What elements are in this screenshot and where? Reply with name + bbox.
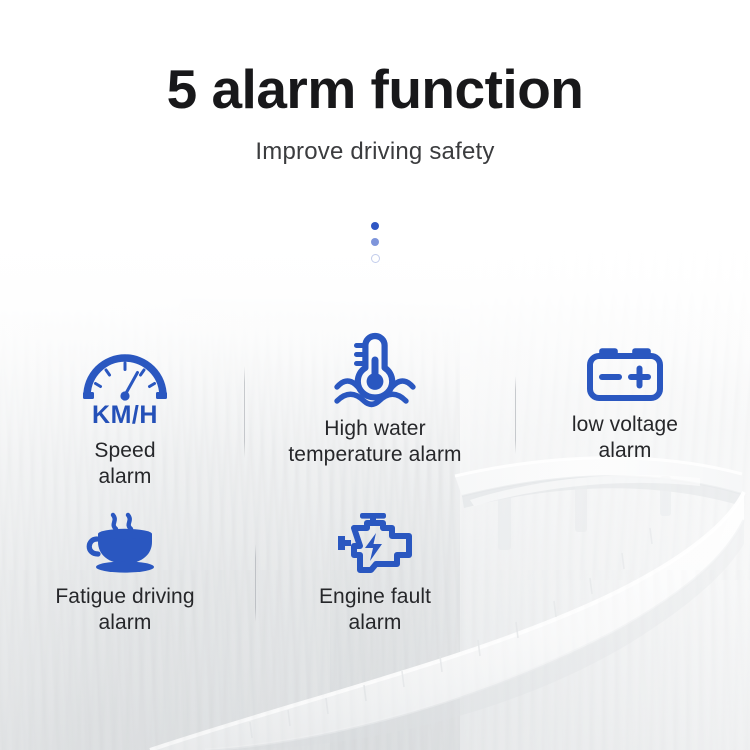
feature-row-2: Fatigue driving alarm [0,502,750,662]
feature-label-water-temperature-alarm: High water temperature alarm [288,416,461,467]
speedometer-icon-wrap [79,330,171,402]
header: 5 alarm function Improve driving safety [0,0,750,165]
feature-label-low-voltage-alarm: low voltage alarm [572,412,678,463]
feature-fatigue-driving-alarm: Fatigue driving alarm [0,502,250,662]
dot-solid-icon [371,222,379,230]
feature-low-voltage-alarm: low voltage alarm [500,330,750,490]
page-subtitle: Improve driving safety [0,117,750,165]
feature-speed-alarm: KM/H Speed alarm [0,330,250,490]
feature-water-temperature-alarm: High water temperature alarm [250,330,500,490]
dot-medium-icon [371,238,379,246]
feature-grid: KM/H Speed alarm [0,330,750,662]
feature-row-1: KM/H Speed alarm [0,330,750,490]
product-feature-poster: 5 alarm function Improve driving safety [0,0,750,750]
battery-icon [585,344,665,402]
water-temperature-icon [333,332,417,406]
feature-engine-fault-alarm: Engine fault alarm [250,502,500,662]
water-temperature-icon-wrap [333,330,417,406]
dot-outline-icon [371,254,380,263]
engine-fault-icon-wrap [332,502,418,574]
engine-fault-icon [332,510,418,574]
dot-decoration [0,222,750,263]
speed-unit-badge: KM/H [92,403,158,428]
coffee-cup-icon [82,508,168,574]
feature-label-engine-fault-alarm: Engine fault alarm [319,584,431,635]
battery-icon-wrap [585,330,665,402]
speedometer-icon [79,350,171,402]
feature-row-2-empty-cell [500,502,750,662]
coffee-cup-icon-wrap [82,502,168,574]
page-title: 5 alarm function [0,0,750,117]
feature-label-fatigue-driving-alarm: Fatigue driving alarm [55,584,194,635]
feature-label-speed-alarm: Speed alarm [94,438,155,489]
